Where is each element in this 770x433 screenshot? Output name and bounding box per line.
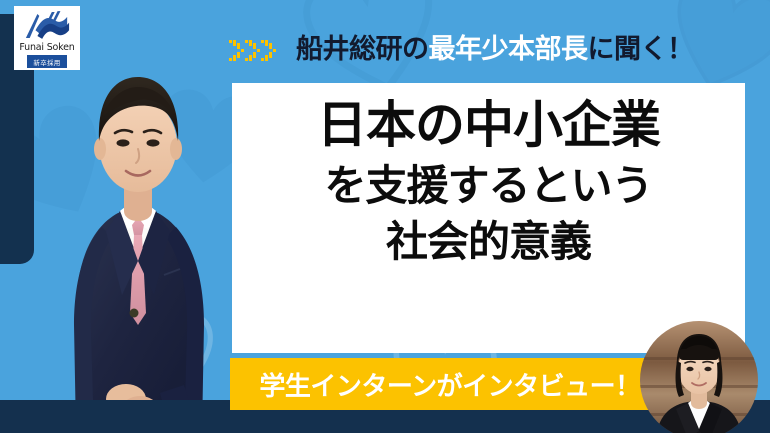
title-line-2: を支援するという (324, 164, 652, 208)
funai-soken-logo: Funai Soken 新卒採用 (14, 6, 80, 70)
youtube-thumbnail: Funai Soken 新卒採用 (0, 0, 770, 433)
headline-highlight: 最年少本部長 (429, 34, 588, 65)
triple-chevron-right-icon (228, 36, 280, 62)
funai-wave-flag-icon (23, 9, 71, 41)
title-card: 日本の中小企業 を支援するという 社会的意義 (232, 83, 745, 353)
title-line-1: 日本の中小企業 (317, 99, 660, 152)
main-subject-photo (34, 13, 239, 433)
headline-part-3: に聞く！ (588, 34, 694, 65)
interviewer-avatar (640, 321, 758, 433)
logo-wordmark: Funai Soken (19, 42, 74, 53)
headline-part-1: 船井総研の (296, 34, 429, 65)
logo-badge: 新卒採用 (27, 55, 66, 68)
interview-banner-text: 学生インターンがインタビュー！ (259, 366, 640, 403)
interview-banner: 学生インターンがインタビュー！ (230, 358, 670, 410)
title-line-3: 社会的意義 (386, 220, 591, 264)
headline: 船井総研の最年少本部長に聞く！ (228, 31, 694, 67)
